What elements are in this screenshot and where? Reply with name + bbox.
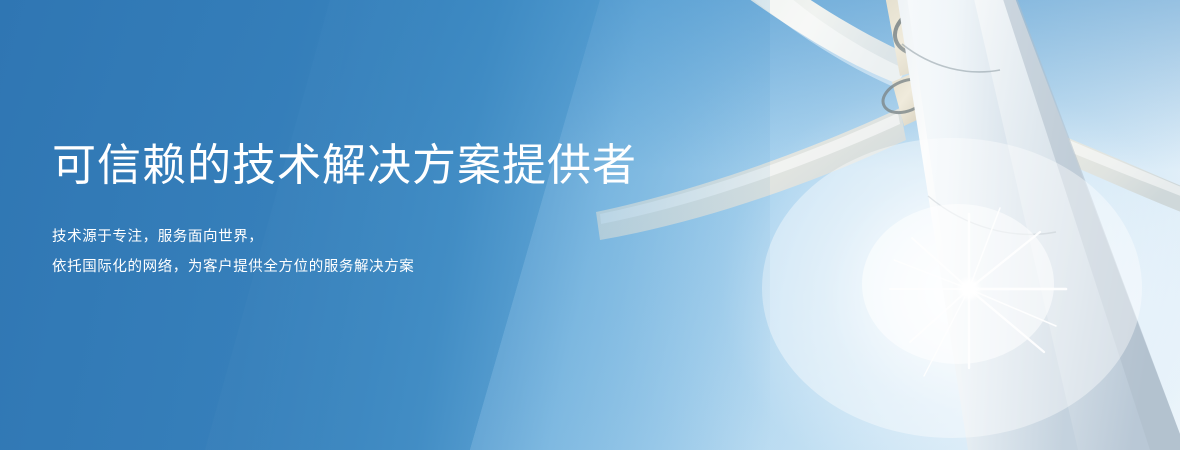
banner-subtitle: 技术源于专注，服务面向世界， 依托国际化的网络，为客户提供全方位的服务解决方案 <box>52 190 672 282</box>
hero-banner: 可信赖的技术解决方案提供者 技术源于专注，服务面向世界， 依托国际化的网络，为客… <box>0 0 1180 450</box>
sun-core <box>956 276 982 302</box>
banner-subtitle-line-1: 技术源于专注，服务面向世界， <box>52 222 672 252</box>
banner-headline: 可信赖的技术解决方案提供者 <box>52 142 672 190</box>
banner-copy: 可信赖的技术解决方案提供者 技术源于专注，服务面向世界， 依托国际化的网络，为客… <box>52 142 672 282</box>
banner-subtitle-line-2: 依托国际化的网络，为客户提供全方位的服务解决方案 <box>52 252 672 282</box>
